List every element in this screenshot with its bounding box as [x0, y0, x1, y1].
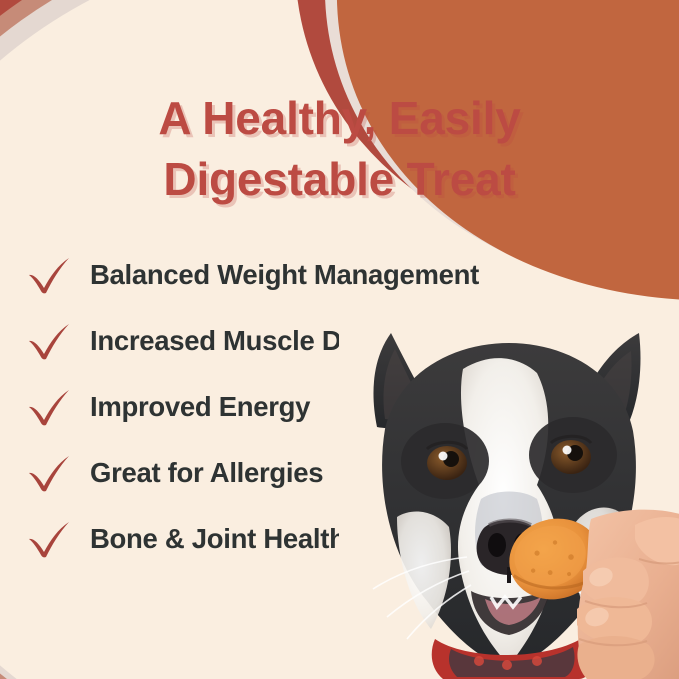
- check-icon: [26, 255, 74, 295]
- list-item-label: Balanced Weight Management: [90, 261, 479, 289]
- dog-eating-treat-photo: [339, 309, 679, 679]
- list-item-label: Improved Energy: [90, 393, 310, 421]
- poster-content: A Healthy, Easily Digestable Treat Balan…: [0, 0, 679, 679]
- list-item-label: Great for Allergies: [90, 459, 323, 487]
- check-icon: [26, 519, 74, 559]
- check-icon: [26, 453, 74, 493]
- list-item: Balanced Weight Management: [26, 244, 646, 306]
- page-title: A Healthy, Easily Digestable Treat: [0, 88, 679, 210]
- check-icon: [26, 387, 74, 427]
- list-item-label: Bone & Joint Health: [90, 525, 346, 553]
- check-icon: [26, 321, 74, 361]
- promotional-poster: A Healthy, Easily Digestable Treat Balan…: [0, 0, 679, 679]
